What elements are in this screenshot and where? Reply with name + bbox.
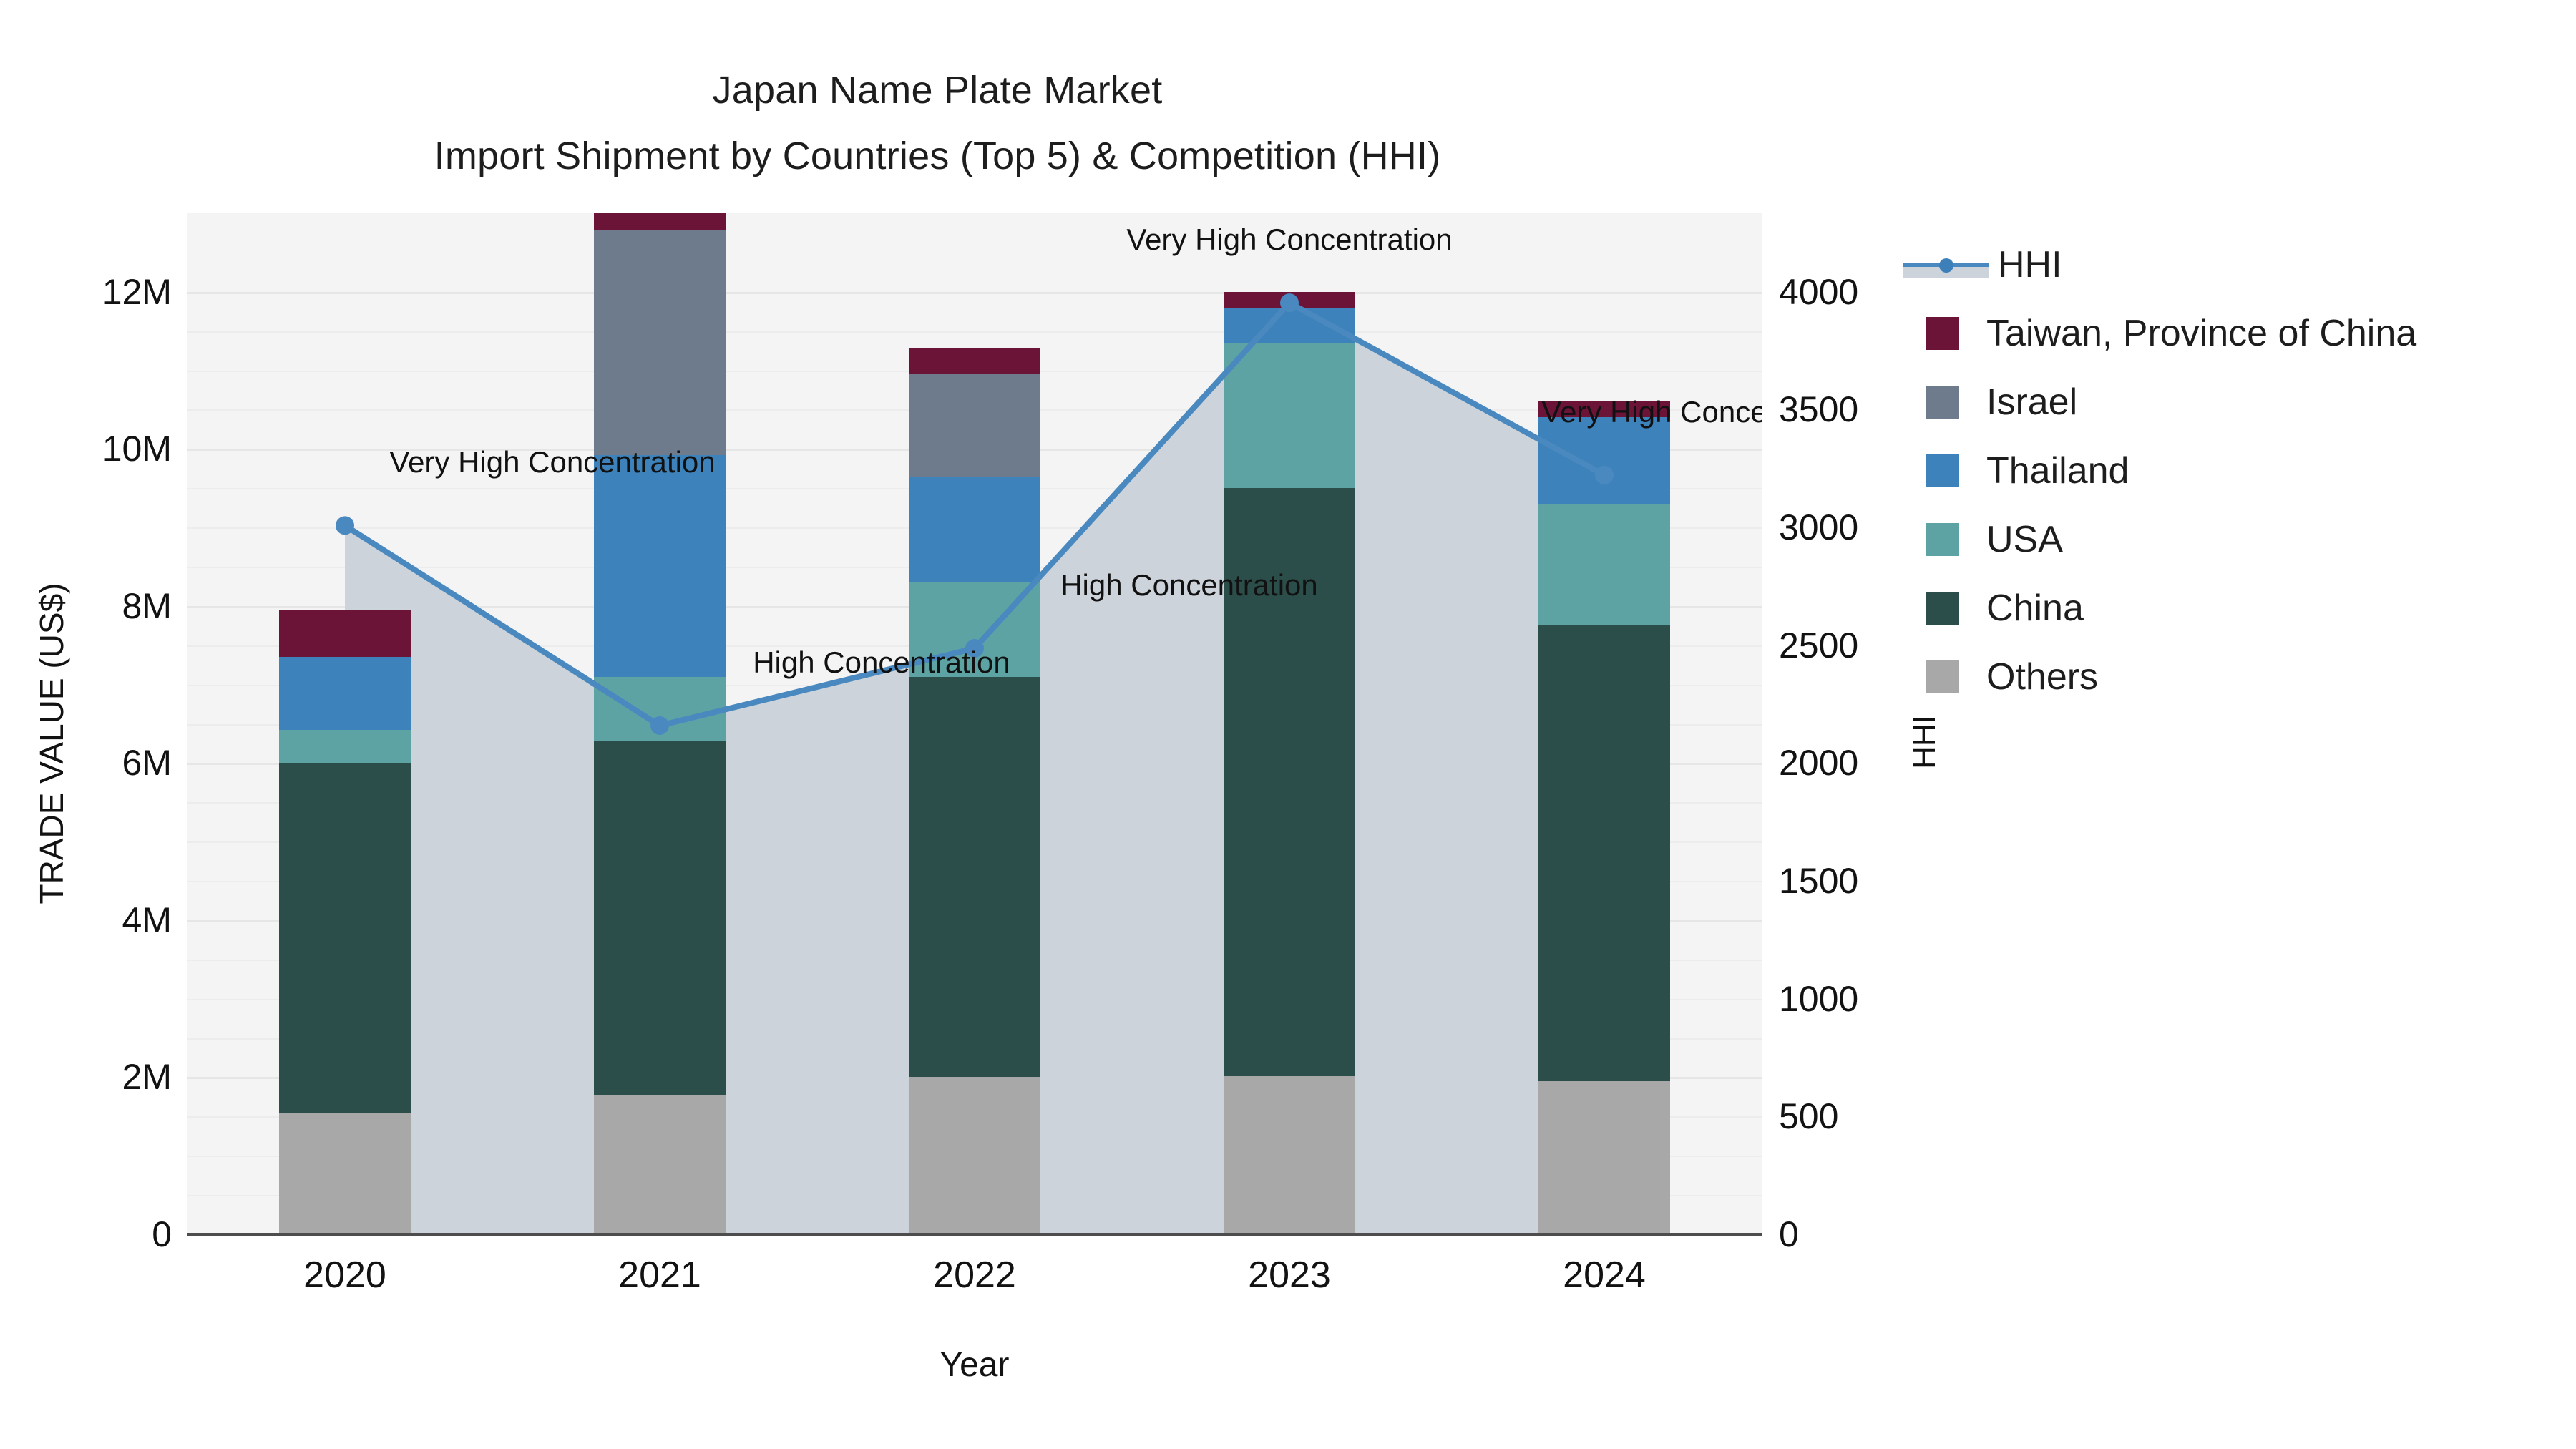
legend-line-key-icon	[1903, 248, 1989, 281]
legend-label: Taiwan, Province of China	[1986, 312, 2416, 355]
legend-line-marker-icon	[1939, 258, 1953, 273]
hhi-marker[interactable]	[650, 716, 669, 735]
legend-swatch-icon	[1926, 592, 1959, 625]
legend-label: HHI	[1998, 243, 2062, 286]
hhi-annotation-2022: High Concentration	[1060, 568, 1318, 602]
legend-item-6[interactable]: Others	[1903, 643, 2547, 711]
hhi-annotation-2023: Very High Concentration	[1126, 223, 1452, 257]
y-tick-left: 0	[14, 1214, 172, 1255]
legend-label: Others	[1986, 655, 2098, 698]
hhi-annotation-2021: High Concentration	[753, 645, 1010, 680]
legend-item-4[interactable]: USA	[1903, 505, 2547, 574]
legend-item-1[interactable]: Taiwan, Province of China	[1903, 299, 2547, 368]
legend-label: Thailand	[1986, 449, 2129, 492]
x-axis-line	[187, 1233, 1762, 1236]
legend-label: Israel	[1986, 381, 2077, 424]
legend-item-0[interactable]: HHI	[1903, 230, 2547, 299]
legend-label: China	[1986, 587, 2084, 630]
chart-title-line-2: Import Shipment by Countries (Top 5) & C…	[0, 123, 1875, 189]
y-tick-right: 2500	[1779, 625, 1858, 666]
plot-inner: Very High ConcentrationHigh Concentratio…	[187, 213, 1762, 1234]
legend-swatch-icon	[1926, 386, 1959, 419]
hhi-line-overlay	[187, 213, 1762, 1234]
x-tick-2023: 2023	[1182, 1254, 1397, 1297]
plot-area: Very High ConcentrationHigh Concentratio…	[187, 213, 1762, 1234]
legend-label: USA	[1986, 518, 2063, 561]
chart-title-block: Japan Name Plate Market Import Shipment …	[0, 57, 1875, 189]
legend-swatch-icon	[1926, 523, 1959, 556]
chart-legend: HHITaiwan, Province of ChinaIsraelThaila…	[1903, 230, 2547, 711]
y-tick-right: 3000	[1779, 507, 1858, 548]
x-tick-2020: 2020	[238, 1254, 452, 1297]
y-tick-right: 1000	[1779, 978, 1858, 1020]
x-tick-2022: 2022	[867, 1254, 1082, 1297]
legend-swatch-icon	[1926, 660, 1959, 693]
y-tick-right: 1500	[1779, 860, 1858, 902]
x-tick-2021: 2021	[552, 1254, 767, 1297]
hhi-annotation-2024: Very High Concentration	[1541, 395, 1762, 429]
chart-page: Japan Name Plate Market Import Shipment …	[0, 0, 2576, 1449]
y-tick-right: 0	[1779, 1214, 1799, 1255]
hhi-marker[interactable]	[336, 516, 354, 535]
y-tick-left: 2M	[14, 1056, 172, 1098]
chart-title-line-1: Japan Name Plate Market	[0, 57, 1875, 123]
legend-item-5[interactable]: China	[1903, 574, 2547, 643]
x-axis-label: Year	[187, 1345, 1762, 1385]
y-tick-right: 500	[1779, 1096, 1838, 1137]
y-tick-right: 2000	[1779, 742, 1858, 784]
y-tick-right: 3500	[1779, 389, 1858, 430]
y-tick-left: 12M	[14, 271, 172, 313]
y-tick-right: 4000	[1779, 271, 1858, 313]
legend-item-3[interactable]: Thailand	[1903, 436, 2547, 505]
y-axis-left-label: TRADE VALUE (US$)	[32, 522, 71, 965]
legend-item-2[interactable]: Israel	[1903, 368, 2547, 436]
y-tick-left: 10M	[14, 428, 172, 469]
legend-swatch-icon	[1926, 454, 1959, 487]
hhi-marker[interactable]	[1595, 466, 1614, 484]
hhi-marker[interactable]	[1280, 293, 1299, 312]
x-tick-2024: 2024	[1497, 1254, 1712, 1297]
hhi-annotation-2020: Very High Concentration	[389, 445, 715, 479]
legend-swatch-icon	[1926, 317, 1959, 350]
